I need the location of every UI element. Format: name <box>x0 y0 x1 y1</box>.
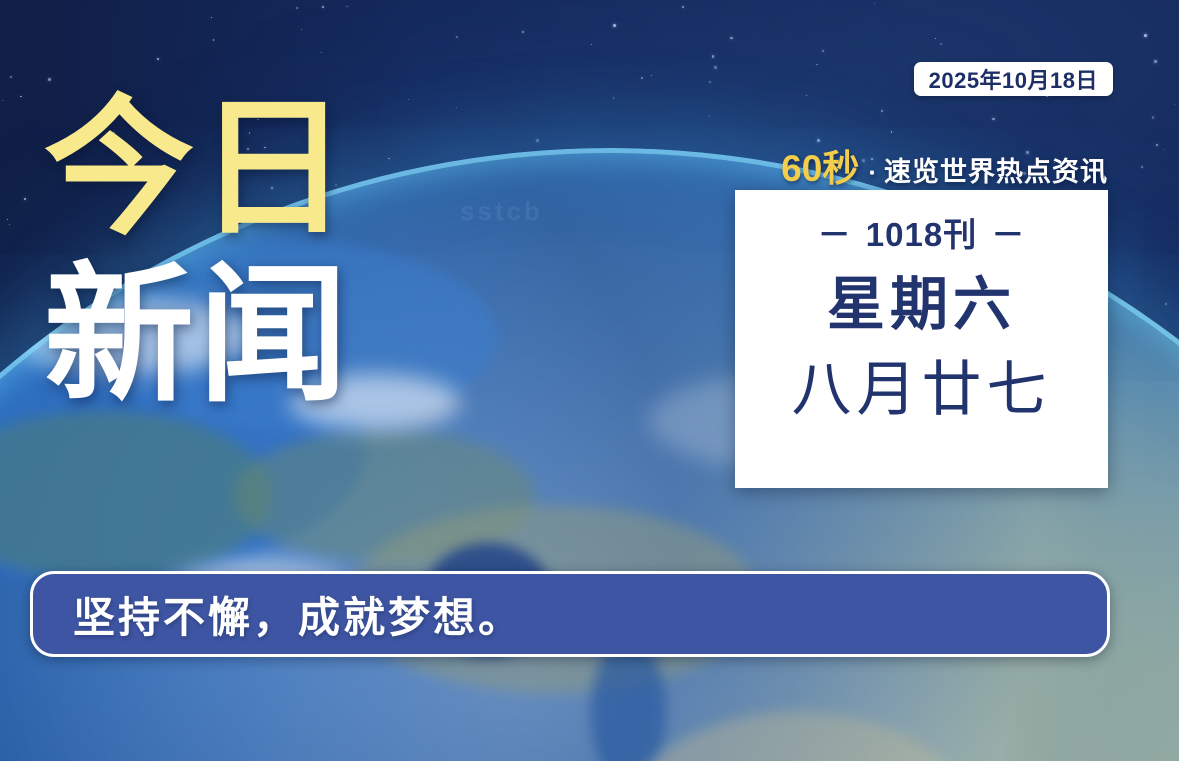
tagline-text: 速览世界热点资讯 <box>884 150 1108 189</box>
star-dot <box>7 219 9 221</box>
star-dot <box>296 7 298 9</box>
star-dot <box>935 38 936 39</box>
issue-dash-left: － <box>814 216 856 253</box>
star-dot <box>211 17 212 18</box>
star-dot <box>613 97 615 99</box>
tagline: 60秒 · 速览世界热点资讯 <box>781 138 1108 192</box>
star-dot <box>881 110 883 112</box>
news-poster: sstcb 今日 新闻 2025年10月18日 60秒 · 速览世界热点资讯 －… <box>0 0 1179 761</box>
star-dot <box>301 29 302 30</box>
star-dot <box>48 78 51 81</box>
star-dot <box>1152 116 1155 119</box>
star-dot <box>651 75 652 76</box>
star-dot <box>1144 34 1147 37</box>
star-dot <box>613 24 616 27</box>
quote-text: 坚持不懈，成就梦想。 <box>73 584 523 645</box>
star-dot <box>891 131 893 133</box>
star-dot <box>346 6 348 8</box>
lunar-date-label: 八月廿七 <box>792 360 1052 420</box>
star-dot <box>992 118 995 121</box>
star-dot <box>536 139 539 142</box>
star-dot <box>712 55 714 57</box>
star-dot <box>806 95 807 96</box>
star-dot <box>816 64 818 66</box>
star-dot <box>9 224 10 225</box>
star-dot <box>714 66 717 69</box>
weekday-label: 星期六 <box>827 276 1016 334</box>
headline-line-2: 新闻 <box>44 263 352 410</box>
star-dot <box>591 44 593 46</box>
watermark-text: sstcb <box>460 196 543 227</box>
tagline-seconds: 60秒 <box>781 138 859 192</box>
star-dot <box>322 6 325 9</box>
quote-bar: 坚持不懈，成就梦想。 <box>30 571 1110 657</box>
star-dot <box>1174 104 1175 105</box>
star-dot <box>1141 166 1143 168</box>
page-title: 今日 新闻 <box>44 96 352 410</box>
headline-line-1: 今日 <box>44 96 352 243</box>
issue-info-card: － 1018刊 － 星期六 八月廿七 <box>735 190 1108 488</box>
star-dot <box>682 6 684 8</box>
star-dot <box>709 81 711 83</box>
star-dot <box>874 3 875 4</box>
star-dot <box>456 107 457 108</box>
star-dot <box>641 77 643 79</box>
date-badge: 2025年10月18日 <box>914 62 1113 96</box>
star-dot <box>1165 303 1167 305</box>
star-dot <box>1156 144 1158 146</box>
star-dot <box>1164 149 1165 150</box>
issue-dash-right: － <box>987 216 1029 253</box>
issue-number: 1018刊 <box>866 216 977 253</box>
star-dot <box>1154 60 1157 63</box>
star-dot <box>10 76 12 78</box>
star-dot <box>709 116 710 117</box>
star-dot <box>408 99 409 100</box>
star-dot <box>157 58 159 60</box>
star-dot <box>321 52 322 53</box>
star-dot <box>456 36 458 38</box>
star-dot <box>213 39 214 40</box>
tagline-separator-dot: · <box>868 157 877 188</box>
star-dot <box>730 37 733 40</box>
star-dot <box>822 50 825 53</box>
star-dot <box>20 96 21 97</box>
star-dot <box>24 198 26 200</box>
star-dot <box>2 100 4 102</box>
star-dot <box>522 31 524 33</box>
star-dot <box>940 43 942 45</box>
issue-number-row: － 1018刊 － <box>814 208 1030 256</box>
star-dot <box>388 158 390 160</box>
